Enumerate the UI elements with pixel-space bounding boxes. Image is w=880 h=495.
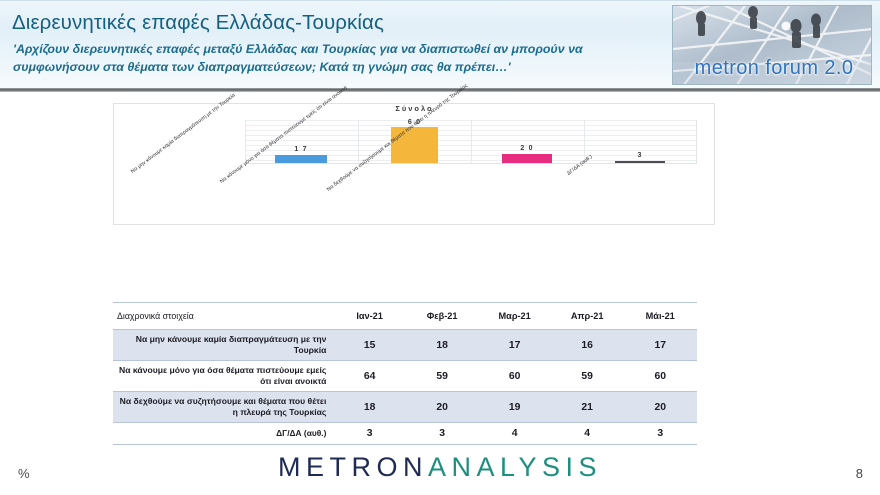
cell-3-3: 4 xyxy=(551,423,624,445)
unit-label: % xyxy=(18,466,30,481)
timeseries-table: Διαχρονικά στοιχεία Ιαν-21 Φεβ-21 Μαρ-21… xyxy=(113,302,697,445)
table-row: Να δεχθούμε να συζητήσουμε και θέματα πο… xyxy=(113,392,697,423)
table-row: Να κάνουμε μόνο για όσα θέματα πιστεύουμ… xyxy=(113,361,697,392)
cell-2-3: 21 xyxy=(551,392,624,423)
bar-2 xyxy=(502,154,552,163)
table-row: Να μην κάνουμε καμία διαπραγμάτευση με τ… xyxy=(113,330,697,361)
table-col-3: Απρ-21 xyxy=(551,303,624,330)
category-label-0: Να μην κάνουμε καμία διαπραγμάτευση με τ… xyxy=(130,92,236,174)
cell-1-1: 59 xyxy=(406,361,479,392)
cell-1-0: 64 xyxy=(333,361,405,392)
table-row: ΔΓ/ΔΑ (αυθ.) 3 3 4 4 3 xyxy=(113,423,697,445)
bar-0 xyxy=(275,155,327,163)
bar-group-0: 1 7 xyxy=(245,120,358,164)
table-col-0: Ιαν-21 xyxy=(333,303,405,330)
brand-metron: METRON xyxy=(278,452,428,482)
bar-value-3: 3 xyxy=(615,152,665,159)
row-label-3: ΔΓ/ΔΑ (αυθ.) xyxy=(113,423,333,445)
page-subtitle: 'Αρχίζουν διερευνητικές επαφές μεταξύ Ελ… xyxy=(13,41,653,77)
cell-2-1: 20 xyxy=(406,392,479,423)
cell-1-2: 60 xyxy=(478,361,551,392)
chart-total-caption: Σύνολο xyxy=(358,104,471,113)
header-divider xyxy=(0,88,880,92)
bar-group-3: 3 xyxy=(584,120,697,164)
cell-1-4: 60 xyxy=(623,361,697,392)
table-col-1: Φεβ-21 xyxy=(406,303,479,330)
table-col-4: Μάι-21 xyxy=(623,303,697,330)
cell-3-0: 3 xyxy=(333,423,405,445)
cell-0-0: 15 xyxy=(333,330,405,361)
page-number: 8 xyxy=(856,466,863,481)
table-col-2: Μαρ-21 xyxy=(478,303,551,330)
table-corner-label: Διαχρονικά στοιχεία xyxy=(113,303,333,330)
bar-chart: 1 7 Σύνολο 6 0 2 0 3 Να μην κάνουμε καμί… xyxy=(113,103,715,225)
slide-header: Διερευνητικές επαφές Ελλάδας-Τουρκίας 'Α… xyxy=(0,0,880,88)
bar-value-2: 2 0 xyxy=(502,145,552,152)
bar-value-0: 1 7 xyxy=(275,146,327,153)
bar-group-2: 2 0 xyxy=(471,120,584,164)
brand-analysis: ANALYSIS xyxy=(428,452,602,482)
chart-plot-area: 1 7 Σύνολο 6 0 2 0 3 xyxy=(245,120,697,164)
metron-analysis-logo: METRONANALYSIS xyxy=(0,452,880,483)
row-label-2: Να δεχθούμε να συζητήσουμε και θέματα πο… xyxy=(113,392,333,423)
cell-0-3: 16 xyxy=(551,330,624,361)
metron-forum-logo: metron forum 2.0 xyxy=(672,5,872,85)
row-label-0: Να μην κάνουμε καμία διαπραγμάτευση με τ… xyxy=(113,330,333,361)
cell-3-2: 4 xyxy=(478,423,551,445)
slide: Διερευνητικές επαφές Ελλάδας-Τουρκίας 'Α… xyxy=(0,0,880,495)
cell-2-0: 18 xyxy=(333,392,405,423)
table-header-row: Διαχρονικά στοιχεία Ιαν-21 Φεβ-21 Μαρ-21… xyxy=(113,303,697,330)
cell-2-2: 19 xyxy=(478,392,551,423)
cell-0-4: 17 xyxy=(623,330,697,361)
cell-1-3: 59 xyxy=(551,361,624,392)
bar-3 xyxy=(615,161,665,163)
page-title: Διερευνητικές επαφές Ελλάδας-Τουρκίας xyxy=(12,11,384,35)
cell-0-2: 17 xyxy=(478,330,551,361)
logo-text: metron forum 2.0 xyxy=(679,57,869,80)
row-label-1: Να κάνουμε μόνο για όσα θέματα πιστεύουμ… xyxy=(113,361,333,392)
cell-2-4: 20 xyxy=(623,392,697,423)
cell-0-1: 18 xyxy=(406,330,479,361)
cell-3-1: 3 xyxy=(406,423,479,445)
cell-3-4: 3 xyxy=(623,423,697,445)
